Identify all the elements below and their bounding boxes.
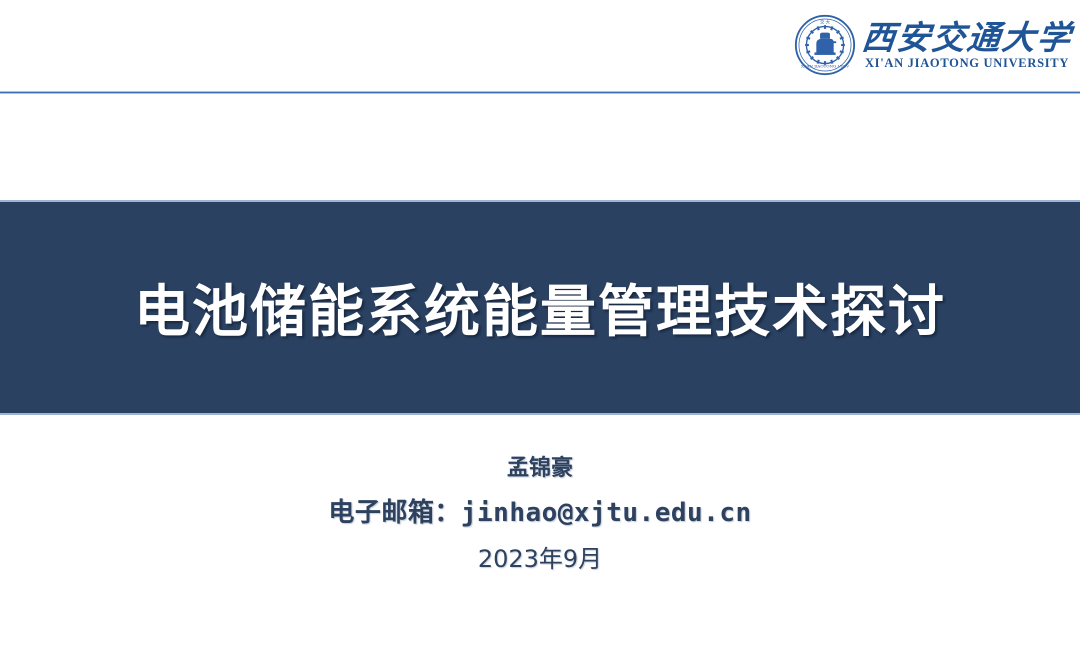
- university-logo: XI'AN JIAOTONG UNIV 交 大 西安交通大学 XI'AN JIA…: [794, 14, 1072, 76]
- title-band: 电池储能系统能量管理技术探讨: [0, 200, 1080, 415]
- presentation-date: 2023年9月: [0, 544, 1080, 575]
- xjtu-seal-icon: XI'AN JIAOTONG UNIV 交 大: [794, 14, 856, 76]
- header-divider: [0, 91, 1080, 94]
- title-slide: XI'AN JIAOTONG UNIV 交 大 西安交通大学 XI'AN JIA…: [0, 0, 1080, 651]
- byline-block: 孟锦豪 电子邮箱：jinhao@xjtu.edu.cn 2023年9月: [0, 455, 1080, 575]
- svg-text:XI'AN JIAOTONG UNIV: XI'AN JIAOTONG UNIV: [801, 63, 849, 68]
- author-name: 孟锦豪: [0, 455, 1080, 483]
- slide-title: 电池储能系统能量管理技术探讨: [134, 267, 946, 348]
- university-name-cn: 西安交通大学: [860, 21, 1074, 56]
- author-email: 电子邮箱：jinhao@xjtu.edu.cn: [0, 497, 1080, 531]
- slide-header: XI'AN JIAOTONG UNIV 交 大 西安交通大学 XI'AN JIA…: [0, 0, 1080, 92]
- university-wordmark: 西安交通大学 XI'AN JIAOTONG UNIVERSITY: [862, 19, 1072, 72]
- university-name-en: XI'AN JIAOTONG UNIVERSITY: [865, 56, 1069, 71]
